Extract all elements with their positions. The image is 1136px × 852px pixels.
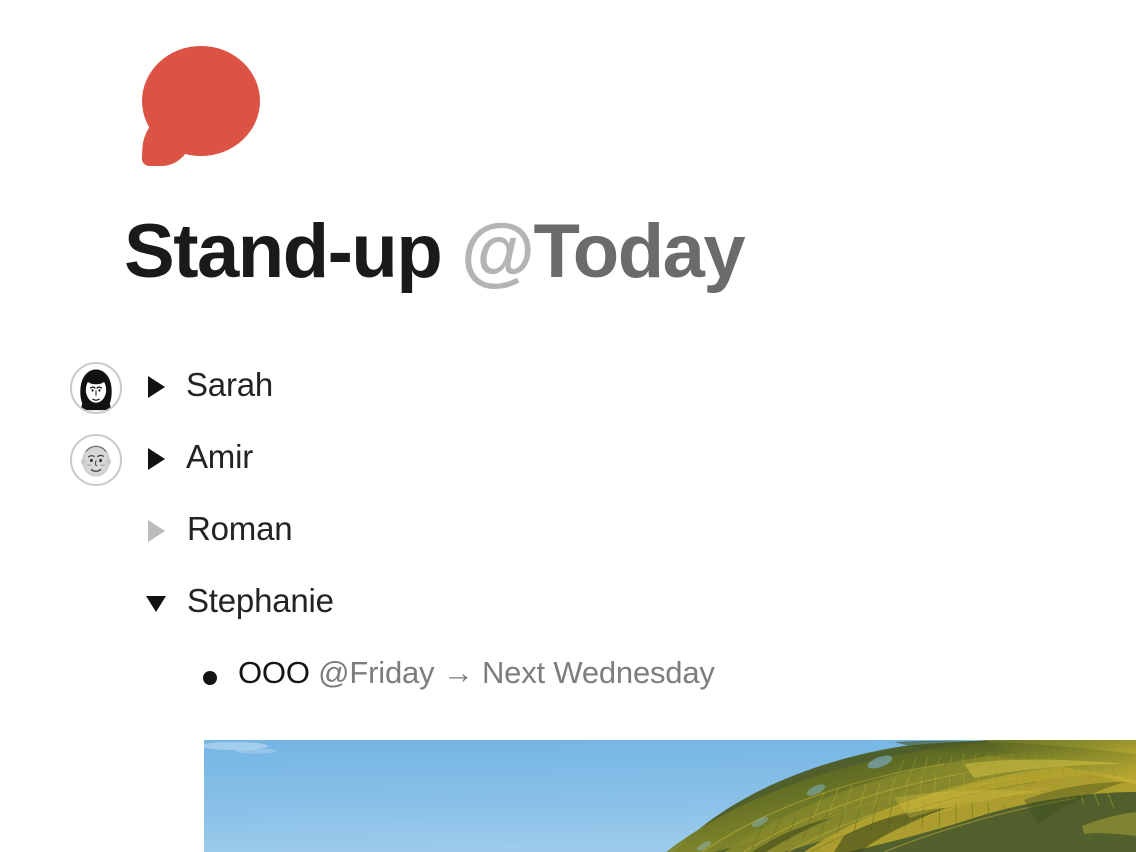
bullet-soft-text: @Friday → Next Wednesday (310, 655, 715, 690)
bullet-strong-text: OOO (238, 655, 310, 690)
list-item-label: Roman (187, 510, 292, 548)
list-item[interactable]: Stephanie (0, 574, 1136, 646)
triangle-right-icon[interactable] (148, 520, 165, 542)
outline-list: Sarah (0, 358, 1136, 646)
bullet-dot-icon (203, 671, 217, 685)
list-item[interactable]: Amir (0, 430, 1136, 502)
stand-up-note-page: Stand-up @Today (0, 0, 1136, 852)
triangle-right-icon[interactable] (148, 376, 165, 398)
page-title-tag: Today (534, 209, 745, 294)
list-item[interactable]: Roman (0, 502, 1136, 574)
avatar-sarah (70, 362, 122, 414)
page-title: Stand-up @Today (124, 214, 744, 290)
list-item-label: Amir (186, 438, 253, 476)
palm-trees-sky-photo[interactable] (204, 740, 1136, 852)
list-item[interactable]: Sarah (0, 358, 1136, 430)
page-title-main: Stand-up (124, 209, 441, 294)
speech-bubble-icon (142, 46, 266, 172)
avatar-amir (70, 434, 122, 486)
triangle-right-icon[interactable] (148, 448, 165, 470)
triangle-down-icon[interactable] (146, 596, 166, 612)
speech-bubble-body (142, 46, 260, 156)
bullet-list-item-label: OOO @Friday → Next Wednesday (238, 655, 715, 691)
page-title-at-symbol: @ (461, 209, 534, 294)
list-item-label: Sarah (186, 366, 273, 404)
list-item-label: Stephanie (187, 582, 334, 620)
